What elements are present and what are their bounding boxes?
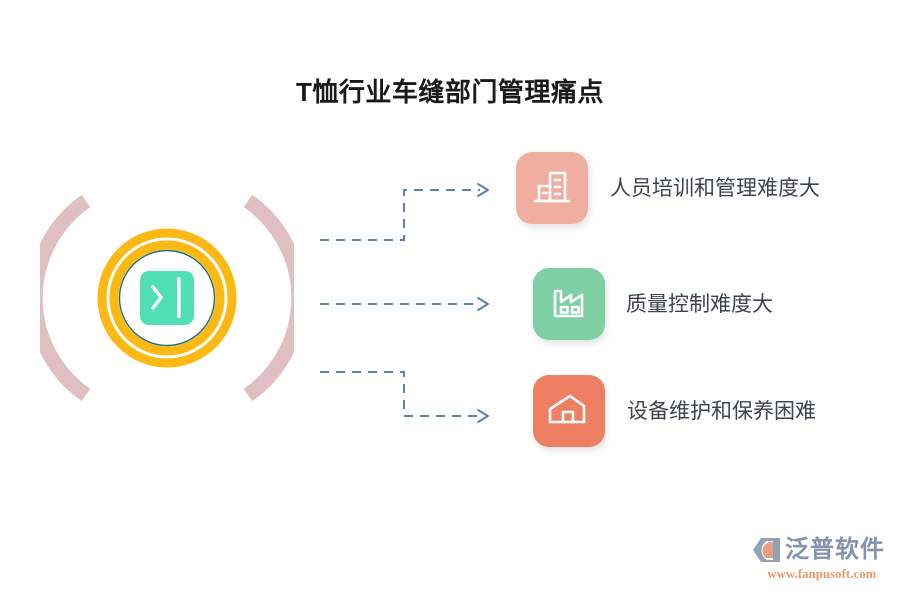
slide-canvas: T恤行业车缝部门管理痛点	[0, 0, 900, 600]
connector-to-item-1	[320, 184, 488, 240]
pain-point-badge-2	[533, 268, 605, 340]
central-emblem	[40, 193, 294, 403]
watermark-row: 泛普软件	[752, 536, 892, 564]
left-arc-decoration	[40, 201, 86, 395]
pain-point-item-2[interactable]: 质量控制难度大	[533, 268, 773, 340]
pain-point-label-1: 人员培训和管理难度大	[610, 178, 820, 199]
fanpu-logo-icon	[752, 536, 782, 564]
warehouse-icon	[546, 388, 592, 434]
pain-point-badge-1	[516, 152, 588, 224]
page-title: T恤行业车缝部门管理痛点	[0, 72, 900, 109]
pain-point-label-3: 设备维护和保养困难	[627, 401, 816, 422]
factory-icon	[547, 282, 591, 326]
office-building-icon	[530, 166, 574, 210]
right-arc-decoration	[248, 201, 294, 395]
connector-to-item-3	[320, 372, 488, 422]
pain-point-item-1[interactable]: 人员培训和管理难度大	[516, 152, 820, 224]
pain-point-label-2: 质量控制难度大	[626, 294, 773, 315]
pain-point-item-3[interactable]: 设备维护和保养困难	[533, 375, 816, 447]
watermark-brand: 泛普软件	[785, 538, 885, 562]
connector-to-item-2	[320, 298, 488, 310]
watermark-url: www.fanpusoft.com	[752, 567, 892, 582]
pain-point-badge-3	[533, 375, 605, 447]
chevron-bar-icon	[140, 271, 194, 325]
watermark: 泛普软件 www.fanpusoft.com	[752, 536, 892, 588]
